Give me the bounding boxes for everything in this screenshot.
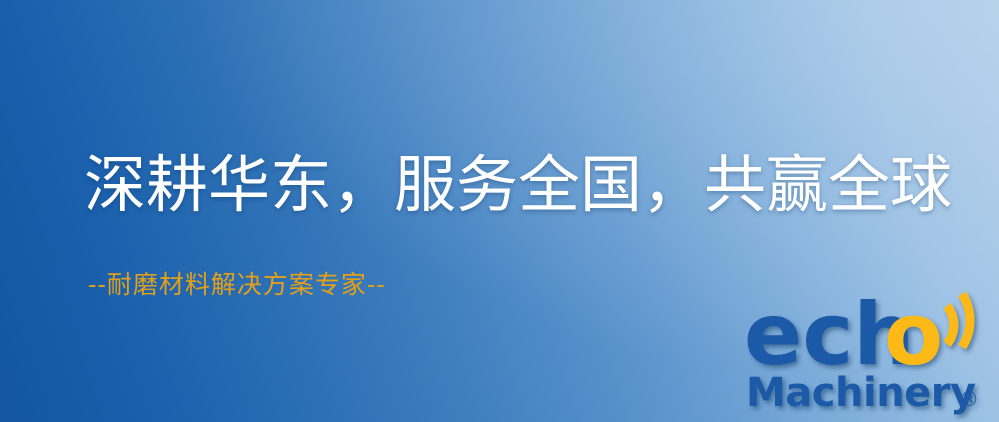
banner-subtitle: --耐磨材料解决方案专家-- xyxy=(88,270,386,300)
banner-headline: 深耕华东，服务全国，共赢全球 xyxy=(84,152,952,218)
promo-banner: 深耕华东，服务全国，共赢全球 --耐磨材料解决方案专家-- ech o xyxy=(0,0,999,422)
company-logo: ech o Machinery ® xyxy=(744,296,996,418)
logo-registered-mark: ® xyxy=(959,387,979,411)
logo-tagline: Machinery xyxy=(746,370,976,416)
signal-waves-icon xyxy=(947,294,970,347)
